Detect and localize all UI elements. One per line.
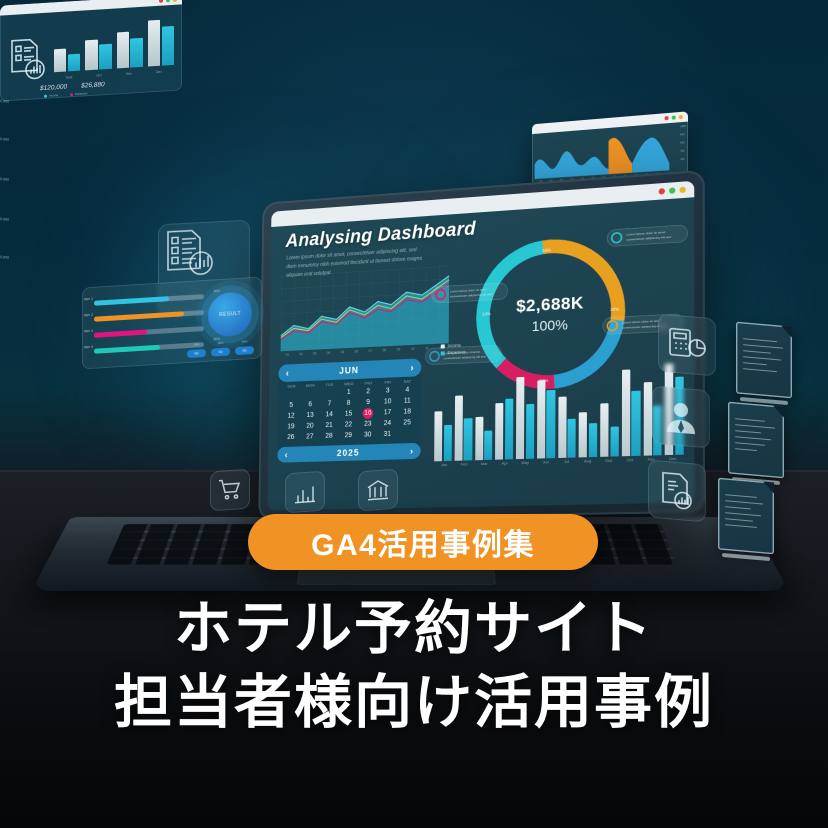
checklist-chart-icon (158, 221, 216, 282)
x-tick: Oct (619, 457, 640, 469)
calendar-blank-cell (320, 388, 339, 400)
callout-text: Lorem ipsum dolor sit amet consectetuer … (626, 229, 680, 242)
bar-group (85, 21, 111, 71)
progress-action-buttons[interactable]: 28%Go 38%Go 46%Go (187, 346, 254, 358)
shopping-cart-icon (218, 477, 242, 503)
bar (495, 403, 503, 459)
bar-group (117, 19, 143, 69)
x-tick: May (515, 460, 536, 472)
document-sheet (736, 322, 792, 399)
bar (558, 397, 566, 458)
callout-text: Lorem ipsum dolor sit amet consectetuer … (450, 286, 501, 298)
minimize-dot-icon[interactable] (166, 0, 170, 2)
progress-button-label: Go (194, 351, 198, 355)
progress-bar-row: Item 2 82% (94, 310, 204, 322)
calendar-day-cell[interactable]: 23 (358, 418, 378, 430)
percent-ring-icon (429, 351, 440, 362)
user-icon-tile (652, 385, 710, 448)
progress-button-cap: 38% (217, 341, 223, 345)
calendar-day-grid[interactable]: 1234567891011121314151617181920212223242… (278, 384, 422, 446)
x-tick: Aug (577, 458, 598, 470)
calendar-next-month-button[interactable]: › (410, 362, 413, 373)
calendar-prev-year-button[interactable]: ‹ (285, 450, 288, 460)
annotation-value: $26,880 (81, 81, 105, 89)
chart-icon-tile (285, 471, 325, 514)
axis-tick: 30,000 (0, 217, 9, 222)
x-tick: 09 (391, 347, 405, 357)
calendar-day-cell[interactable]: 3 (378, 385, 398, 397)
bar (526, 404, 534, 459)
calendar-day-cell[interactable]: 13 (300, 410, 319, 421)
calendar-day-cell[interactable]: 9 (358, 397, 378, 409)
donut-callout-right-top[interactable]: Lorem ipsum dolor sit amet consectetuer … (607, 224, 688, 247)
document-sheet (728, 402, 784, 479)
calendar-prev-month-button[interactable]: ‹ (286, 368, 289, 379)
x-tick: 07 (363, 349, 377, 358)
bar (600, 403, 609, 457)
x-tick: 08 (377, 348, 391, 358)
x-tick: 05 (335, 350, 349, 359)
progress-label: Item 3 (84, 329, 93, 334)
progress-button[interactable]: 28%Go (187, 349, 206, 358)
result-label: RESULT (219, 311, 241, 318)
bar (444, 424, 452, 461)
axis-tick: 60,000 (0, 137, 9, 142)
bar-group (579, 359, 597, 458)
x-tick: 10 (406, 347, 420, 357)
y-tick: 20k (680, 158, 686, 161)
bar (85, 40, 97, 71)
calendar-day-cell[interactable]: 30 (358, 429, 378, 440)
bar (516, 377, 525, 459)
bar (454, 395, 462, 461)
poster-headline: ホテル予約サイト 担当者様向け活用事例 (0, 592, 828, 740)
y-tick: 80k (680, 133, 686, 137)
trend-area-chart: 01 02 03 04 05 06 07 08 09 10 11 12 (281, 266, 450, 351)
bar (505, 399, 513, 459)
x-tick: Mar (474, 461, 494, 473)
percent-ring-icon (611, 232, 622, 244)
bar-group (558, 360, 576, 459)
bar (546, 390, 555, 459)
x-tick: Dec (144, 69, 174, 75)
progress-bar-row: Item 3 48% (94, 326, 204, 338)
trend-chart-svg (281, 266, 450, 351)
bank-icon (366, 477, 390, 503)
calendar-day-cell[interactable]: 8 (339, 398, 358, 410)
bar (54, 48, 66, 72)
x-tick: Apr (494, 460, 514, 472)
bar (162, 26, 174, 66)
calendar-year-label: 2025 (337, 448, 360, 458)
calendar-month-label: JUN (339, 365, 359, 376)
quarter-bar-columns (54, 17, 174, 72)
bar (610, 427, 618, 457)
dashboard-titlebar (271, 181, 694, 227)
cart-icon-tile (210, 469, 250, 512)
calendar-day-cell[interactable]: 21 (319, 420, 338, 431)
calendar-day-cell[interactable]: 2 (358, 386, 378, 398)
calendar-day-cell-selected[interactable]: 16 (358, 408, 378, 420)
legend-label: Expenses (448, 349, 466, 355)
bar-group (475, 363, 493, 460)
calendar-day-cell[interactable]: 28 (319, 431, 338, 442)
bar (99, 44, 111, 70)
progress-label: Item 2 (84, 313, 93, 318)
close-dot-icon[interactable] (665, 116, 669, 120)
analysing-dashboard: Analysing Dashboard Lorem ipsum dolor si… (268, 181, 695, 511)
calendar-day-cell[interactable]: 7 (320, 398, 339, 409)
document-chart-icon (8, 37, 46, 83)
headline-line-1: ホテル予約サイト (0, 592, 828, 666)
calendar-day-cell[interactable]: 5 (282, 400, 301, 411)
bar (589, 423, 597, 457)
bar (130, 38, 142, 68)
x-tick: Nov (114, 71, 144, 77)
progress-result-panel: Item 1 68% Item 2 82% Item 3 48% Item 4 … (82, 276, 262, 369)
calendar-next-year-button[interactable]: › (410, 446, 413, 456)
calendar-day-cell[interactable]: 18 (397, 406, 417, 418)
calendar-day-cell[interactable]: 6 (301, 399, 320, 410)
axis-tick: 70,000 (0, 99, 9, 104)
calendar-day-cell[interactable]: 1 (339, 387, 358, 399)
bar (484, 431, 492, 460)
close-dot-icon[interactable] (159, 0, 163, 3)
progress-label: Item 4 (84, 345, 93, 350)
bar (632, 390, 641, 456)
calendar-widget[interactable]: ‹ JUN › SUNMONTUEWEDTHUFRISAT 1234567891… (277, 358, 421, 462)
close-dot-icon[interactable] (659, 188, 665, 195)
right-axis-panel: 70,000 60,000 40,000 30,000 10,000 (0, 93, 70, 295)
progress-button-cap: 46% (241, 339, 247, 343)
bar-group (622, 357, 641, 457)
x-tick: Sept (54, 74, 84, 80)
minimize-dot-icon[interactable] (669, 187, 675, 194)
calendar-day-cell[interactable]: 15 (339, 408, 358, 419)
calendar-day-cell[interactable]: 11 (397, 395, 417, 407)
calendar-day-cell[interactable]: 22 (339, 419, 358, 430)
progress-button-label: Go (218, 350, 222, 354)
calendar-year-footer: ‹ 2025 › (277, 443, 420, 463)
calendar-day-cell[interactable]: 19 (281, 421, 300, 432)
calendar-day-cell[interactable]: 20 (300, 420, 319, 431)
bar-group (537, 360, 555, 458)
percent-ring-icon (435, 289, 446, 300)
donut-value: $2,688K (516, 293, 584, 317)
percent-ring-icon (607, 320, 618, 332)
bar (148, 20, 160, 67)
legend-label: Income (448, 343, 461, 349)
user-avatar-icon (661, 395, 701, 438)
bar (537, 380, 546, 458)
axis-tick: 40,000 (0, 177, 9, 182)
laptop-screen: Analysing Dashboard Lorem ipsum dolor si… (268, 181, 695, 511)
ga4-badge: GA4活用事例集 (248, 514, 598, 570)
bar-group (454, 364, 472, 461)
bar-group (495, 362, 513, 459)
result-donut: RESULT (208, 291, 252, 338)
bar (434, 411, 442, 461)
poster-canvas: 100k 80k 60k 40k 20k 0102030405060708091… (0, 0, 828, 828)
window-titlebar (0, 0, 182, 16)
progress-button[interactable]: 38%Go (211, 347, 230, 356)
annotation-value: $120,000 (40, 83, 67, 92)
legend-item: Expenses (441, 349, 466, 355)
calendar-day-cell[interactable]: 4 (397, 384, 417, 396)
bar-columns (434, 355, 684, 462)
monthly-bar-chart: JanFebMarAprMayJunJulAugSepOctNovDec (434, 353, 684, 474)
progress-bar-row: Item 1 68% (94, 294, 204, 306)
bar-chart-icon (293, 479, 317, 505)
donut-slice-label: 28% (542, 248, 551, 254)
quarterly-summary-window: SeptOctNovDec $120,000 $26,880 Income Ex… (0, 0, 182, 102)
y-tick: 100k (680, 125, 686, 129)
area-chart-y-axis: 100k 80k 60k 40k 20k (680, 125, 686, 161)
trackpad[interactable] (297, 569, 496, 585)
progress-button[interactable]: 46%Go (235, 346, 254, 355)
calendar-day-cell[interactable]: 26 (281, 432, 300, 443)
calculator-pie-icon (667, 323, 707, 366)
progress-button-cap: 28% (193, 342, 199, 346)
progress-value: 68% (214, 289, 220, 293)
document-chart-icon (657, 469, 697, 512)
calendar-day-cell[interactable]: 24 (378, 418, 398, 430)
bar-group (434, 365, 452, 461)
x-tick: 03 (308, 351, 322, 360)
axis-tick: 10,000 (0, 255, 9, 260)
calendar-day-cell[interactable]: 14 (320, 409, 339, 420)
bar-group (148, 17, 174, 67)
calendar-day-cell[interactable]: 29 (339, 430, 358, 441)
maximize-dot-icon[interactable] (680, 187, 686, 194)
badge-label: GA4活用事例集 (311, 520, 535, 564)
bar (568, 418, 576, 457)
bar-group (516, 361, 534, 459)
calendar-blank-cell (301, 388, 320, 399)
donut-slice-label: 29% (610, 306, 619, 312)
laptop-lid: Analysing Dashboard Lorem ipsum dolor si… (258, 170, 705, 521)
document-sheet (718, 478, 774, 555)
calendar-day-cell[interactable]: 31 (377, 429, 397, 441)
x-tick: Feb (454, 461, 474, 473)
y-tick: 40k (680, 149, 686, 152)
calendar-day-cell[interactable]: 25 (397, 417, 417, 429)
x-tick: 04 (322, 351, 336, 360)
maximize-dot-icon[interactable] (173, 0, 177, 2)
maximize-dot-icon[interactable] (679, 115, 683, 119)
calendar-day-cell[interactable]: 27 (300, 431, 319, 442)
bar-group (54, 23, 80, 73)
bar-group (600, 358, 619, 457)
x-tick: Jul (556, 459, 577, 471)
bar (579, 412, 587, 457)
x-tick: Sep (598, 457, 619, 469)
legend-label: Expenses (75, 91, 87, 96)
bar-chart-legend: Income Expenses (441, 342, 466, 357)
y-tick: 60k (680, 141, 686, 144)
document-icon-tile (648, 459, 706, 522)
bar (475, 417, 483, 461)
calendar-day-cell[interactable]: 17 (378, 407, 398, 419)
bank-icon-tile (358, 469, 398, 512)
progress-label: Item 1 (84, 297, 93, 302)
bar (643, 382, 652, 456)
bar (117, 32, 129, 68)
legend-item: Expenses (70, 91, 87, 96)
x-tick: Jun (535, 459, 556, 471)
headline-line-2: 担当者様向け活用事例 (0, 666, 828, 740)
x-tick: 06 (349, 349, 363, 358)
progress-button-label: Go (242, 348, 246, 352)
bar (622, 369, 631, 456)
bar (68, 53, 80, 71)
calendar-day-cell[interactable]: 10 (378, 396, 398, 408)
donut-slice-label: 14% (482, 311, 491, 316)
legend-item: Income (441, 342, 466, 348)
calculator-icon-tile (658, 313, 716, 376)
x-tick: 02 (294, 352, 308, 361)
quarter-annotations: $120,000 $26,880 (40, 81, 105, 92)
bar (464, 418, 472, 461)
minimize-dot-icon[interactable] (672, 115, 676, 119)
x-tick: Jan (434, 462, 454, 474)
x-tick: 01 (280, 353, 294, 362)
x-tick: Oct (84, 73, 114, 79)
calendar-day-cell[interactable]: 12 (282, 410, 301, 421)
calendar-blank-cell (282, 389, 301, 400)
donut-percent: 100% (532, 316, 568, 334)
